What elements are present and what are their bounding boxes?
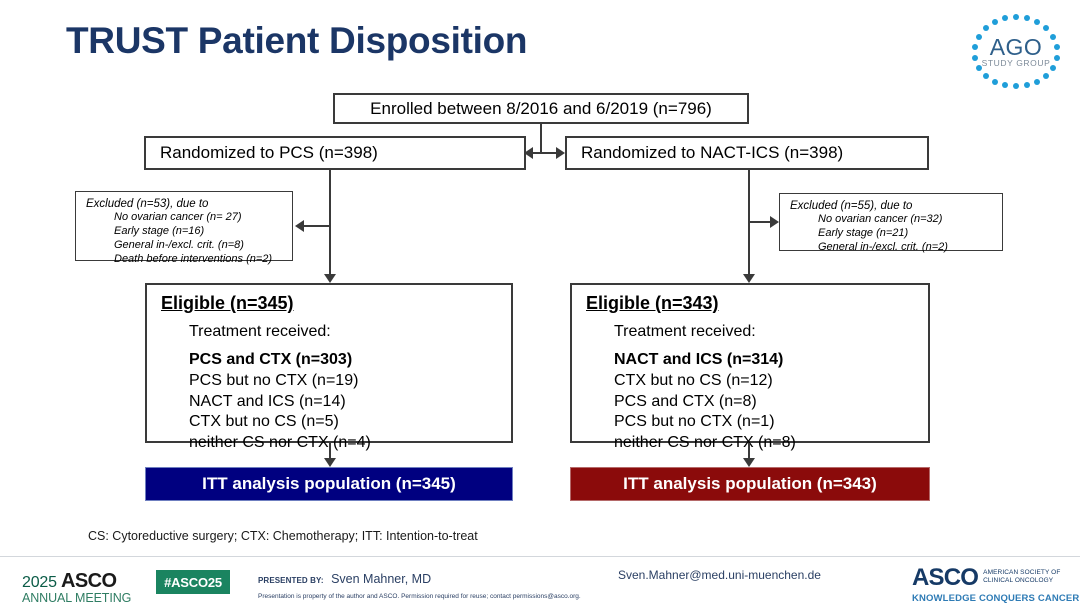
asco-meeting-year: 2025	[22, 574, 57, 591]
box-exclusions-nact-ics: Excluded (n=55), due to No ovarian cance…	[779, 193, 1003, 251]
ago-logo-dot	[983, 73, 989, 79]
box-randomized-pcs-label: Randomized to PCS (n=398)	[160, 142, 378, 163]
ago-logo-dot	[1043, 73, 1049, 79]
ago-logo-dot	[972, 44, 978, 50]
presenter-block: PRESENTED BY: Sven Mahner, MD Presentati…	[258, 570, 581, 600]
eligible-title: Eligible (n=345)	[161, 293, 511, 314]
ago-logo-dot	[1002, 15, 1008, 21]
ago-logo-dot	[976, 65, 982, 71]
footer-divider	[0, 556, 1080, 557]
ago-study-group-logo: AGO STUDY GROUP	[968, 12, 1064, 88]
asco-society-logo-row: ASCO AMERICAN SOCIETY OF CLINICAL ONCOLO…	[912, 566, 1072, 590]
asco-society-logo: ASCO AMERICAN SOCIETY OF CLINICAL ONCOLO…	[912, 566, 1072, 604]
eligible-item: PCS but no CTX (n=1)	[586, 412, 928, 433]
presenter-name: Sven Mahner, MD	[331, 572, 431, 586]
ago-logo-dot	[972, 55, 978, 61]
arrow-to-exclusion-left	[295, 220, 304, 232]
ago-logo-dot	[1024, 15, 1030, 21]
itt-population-nact-ics-label: ITT analysis population (n=343)	[623, 474, 877, 494]
exclusion-item: No ovarian cancer (n=32)	[790, 212, 994, 226]
exclusion-heading: Excluded (n=55), due to	[790, 200, 994, 212]
exclusion-item: No ovarian cancer (n= 27)	[86, 210, 284, 224]
hashtag-badge[interactable]: #ASCO25	[156, 570, 230, 594]
eligible-item: NACT and ICS (n=14)	[161, 392, 511, 413]
asco-society-brand: ASCO	[912, 566, 978, 590]
eligible-item: PCS and CTX (n=303)	[161, 350, 511, 371]
ago-logo-dot	[992, 79, 998, 85]
connector-enrolled-down	[540, 124, 542, 153]
asco-meeting-brand: ASCO	[61, 570, 116, 592]
asco-meeting-subtitle: ANNUAL MEETING	[22, 591, 144, 605]
exclusion-item: General in-/excl. crit. (n=2)	[790, 240, 994, 254]
exclusion-item: General in-/excl. crit. (n=8)	[86, 238, 284, 252]
exclusion-item: Early stage (n=16)	[86, 224, 284, 238]
ago-logo-dot	[1002, 82, 1008, 88]
asco-meeting-logo-line1: 2025 ASCO	[22, 570, 144, 593]
eligible-item: CTX but no CS (n=5)	[161, 412, 511, 433]
ago-logo-dot	[1034, 19, 1040, 25]
eligible-item: CTX but no CS (n=12)	[586, 371, 928, 392]
ago-logo-dot	[1024, 82, 1030, 88]
asco-society-name: AMERICAN SOCIETY OF CLINICAL ONCOLOGY	[983, 569, 1060, 585]
box-eligible-pcs: Eligible (n=345) Treatment received: PCS…	[145, 283, 513, 443]
box-exclusions-pcs: Excluded (n=53), due to No ovarian cance…	[75, 191, 293, 261]
ago-logo-dot	[992, 19, 998, 25]
ago-logo-dot	[983, 25, 989, 31]
asco-society-name-line2: CLINICAL ONCOLOGY	[983, 577, 1053, 584]
asco-society-name-line1: AMERICAN SOCIETY OF	[983, 569, 1060, 576]
box-enrolled-label: Enrolled between 8/2016 and 6/2019 (n=79…	[370, 98, 712, 119]
ago-logo-dot	[1054, 44, 1060, 50]
eligible-title: Eligible (n=343)	[586, 293, 928, 314]
eligible-subtitle: Treatment received:	[161, 323, 511, 341]
connector-pcs-to-exclusion	[304, 225, 330, 227]
eligible-item: PCS and CTX (n=8)	[586, 392, 928, 413]
ago-logo-dot	[1034, 79, 1040, 85]
itt-population-pcs-label: ITT analysis population (n=345)	[202, 474, 456, 494]
eligible-subtitle: Treatment received:	[586, 323, 928, 341]
eligible-item: NACT and ICS (n=314)	[586, 350, 928, 371]
asco-annual-meeting-logo: 2025 ASCO ANNUAL MEETING	[22, 570, 144, 605]
arrow-nact-to-eligible	[743, 274, 755, 283]
connector-pcs-down	[329, 170, 331, 274]
hashtag-badge-label: #ASCO25	[164, 575, 222, 590]
box-randomized-nact-ics: Randomized to NACT-ICS (n=398)	[565, 136, 929, 170]
eligible-item: PCS but no CTX (n=19)	[161, 371, 511, 392]
abbreviations-note: CS: Cytoreductive surgery; CTX: Chemothe…	[88, 529, 478, 543]
box-randomized-nact-ics-label: Randomized to NACT-ICS (n=398)	[581, 142, 843, 163]
exclusion-item: Death before interventions (n=2)	[86, 252, 284, 266]
ago-logo-dot	[1013, 14, 1019, 20]
presented-by-label: PRESENTED BY:	[258, 576, 324, 585]
eligible-item: neither CS nor CTX (n=8)	[586, 433, 928, 454]
ago-logo-dot	[1013, 83, 1019, 89]
box-enrolled: Enrolled between 8/2016 and 6/2019 (n=79…	[333, 93, 749, 124]
arrow-to-nact	[556, 147, 565, 159]
ago-logo-dot	[1054, 55, 1060, 61]
connector-eligible-left-to-itt	[329, 443, 331, 458]
ago-logo-dot	[1050, 34, 1056, 40]
arrow-pcs-to-eligible	[324, 274, 336, 283]
itt-population-pcs: ITT analysis population (n=345)	[145, 467, 513, 501]
box-randomized-pcs: Randomized to PCS (n=398)	[144, 136, 526, 170]
exclusion-heading: Excluded (n=53), due to	[86, 198, 284, 210]
connector-nact-to-exclusion	[748, 221, 770, 223]
eligible-item: neither CS nor CTX (n=4)	[161, 433, 511, 454]
arrow-eligible-right-to-itt	[743, 458, 755, 467]
presentation-disclaimer: Presentation is property of the author a…	[258, 593, 581, 600]
asco-society-tagline: KNOWLEDGE CONQUERS CANCER	[912, 593, 1072, 604]
presenter-email[interactable]: Sven.Mahner@med.uni-muenchen.de	[618, 568, 821, 582]
ago-logo-dot	[976, 34, 982, 40]
arrow-eligible-left-to-itt	[324, 458, 336, 467]
page-title: TRUST Patient Disposition	[66, 20, 527, 62]
arrow-to-exclusion-right	[770, 216, 779, 228]
ago-logo-dot	[1050, 65, 1056, 71]
exclusion-item: Early stage (n=21)	[790, 226, 994, 240]
ago-logo-dot	[1043, 25, 1049, 31]
itt-population-nact-ics: ITT analysis population (n=343)	[570, 467, 930, 501]
connector-eligible-right-to-itt	[748, 443, 750, 458]
box-eligible-nact-ics: Eligible (n=343) Treatment received: NAC…	[570, 283, 930, 443]
